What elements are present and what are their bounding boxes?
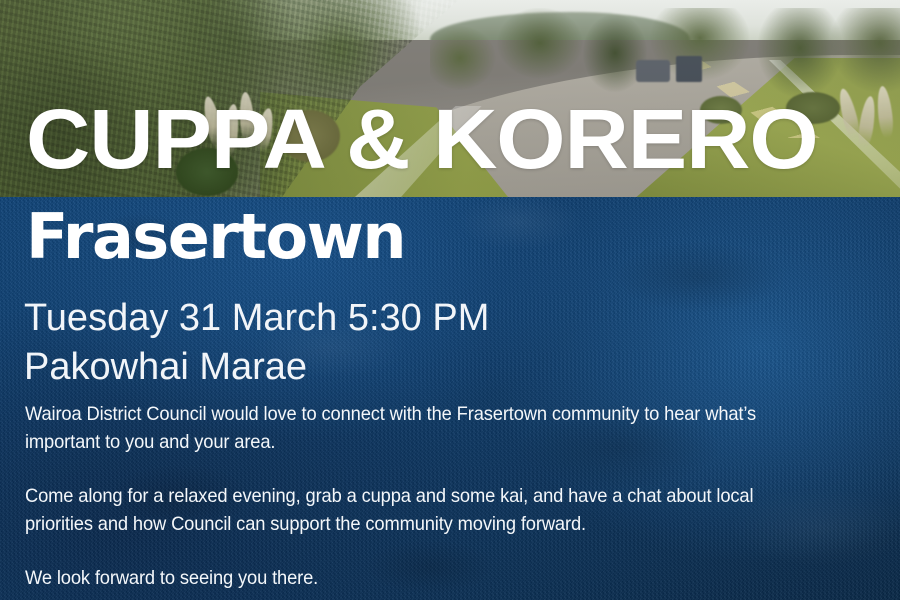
town-name: Frasertown: [26, 202, 405, 272]
page-title: CUPPA & KORERO: [26, 96, 818, 182]
paragraph-invitation: Come along for a relaxed evening, grab a…: [25, 482, 768, 538]
panel-content: Frasertown Tuesday 31 March 5:30 PM Pako…: [0, 197, 900, 600]
body-copy: Wairoa District Council would love to co…: [25, 400, 768, 592]
event-venue: Pakowhai Marae: [24, 343, 489, 392]
paragraph-intro: Wairoa District Council would love to co…: [25, 400, 768, 456]
event-details: Tuesday 31 March 5:30 PM Pakowhai Marae: [24, 294, 489, 392]
header-photo: CUPPA & KORERO: [0, 0, 900, 197]
paragraph-closing: We look forward to seeing you there.: [25, 564, 768, 592]
info-panel: Frasertown Tuesday 31 March 5:30 PM Pako…: [0, 197, 900, 600]
event-datetime: Tuesday 31 March 5:30 PM: [24, 294, 489, 343]
poster-canvas: CUPPA & KORERO Frasertown Tuesday 31 Mar…: [0, 0, 900, 600]
